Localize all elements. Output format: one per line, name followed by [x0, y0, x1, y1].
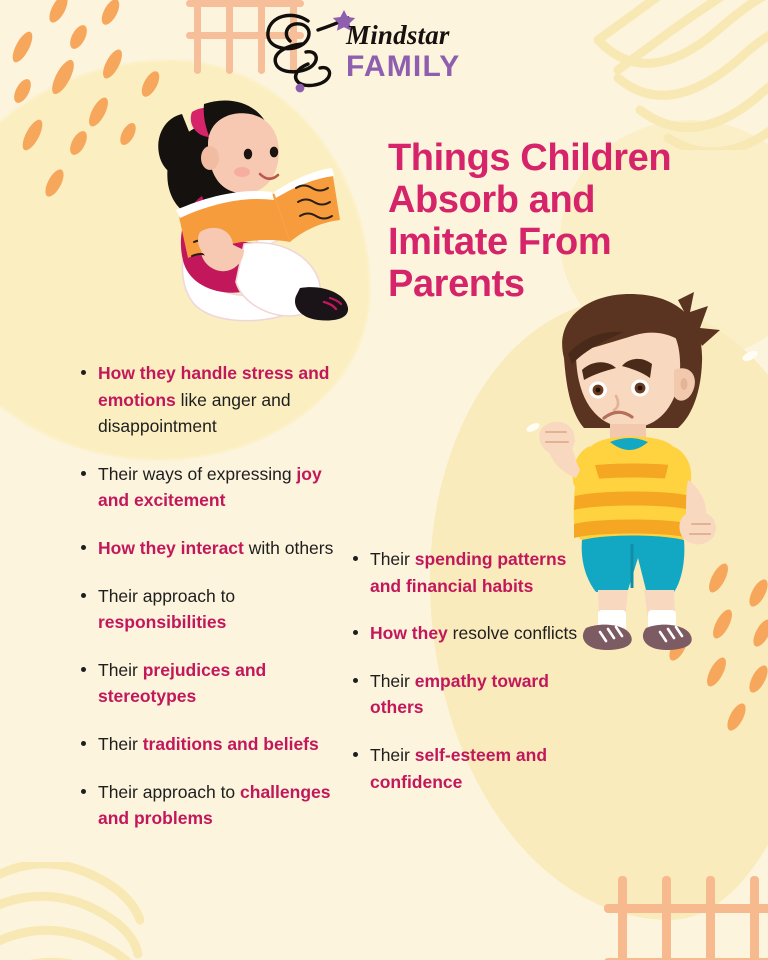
left-list-item: How they handle stress and emotions like… — [78, 360, 346, 440]
logo-family-name: FAMILY — [346, 51, 460, 83]
page-title: Things ChildrenAbsorb andImitate FromPar… — [388, 138, 738, 305]
right-list-item-2-segment-2: resolve conflicts — [448, 623, 577, 643]
left-list-item-5-segment-1: Their — [98, 660, 143, 680]
left-list-item: Their prejudices and stereotypes — [78, 657, 346, 710]
scribble-top-right — [588, 0, 768, 150]
right-bullet-list: Their spending patterns and financial ha… — [350, 546, 590, 816]
left-list-item-3-segment-1: How they interact — [98, 538, 244, 558]
logo-script-name: Mindstar — [346, 22, 460, 49]
left-list-item-4-segment-1: Their approach to — [98, 586, 235, 606]
left-list-item-2-segment-1: Their ways of expressing — [98, 464, 296, 484]
right-list-item-1-segment-1: Their — [370, 549, 415, 569]
right-list-item: Their self-esteem and confidence — [350, 742, 590, 795]
left-list-item-3-segment-2: with others — [244, 538, 333, 558]
left-list-item-4-segment-2: responsibilities — [98, 612, 226, 632]
left-list-item: How they interact with others — [78, 535, 346, 562]
left-list-item: Their traditions and beliefs — [78, 731, 346, 758]
scribble-swirl-wand-icon — [262, 8, 358, 94]
right-list-item: How they resolve conflicts — [350, 620, 590, 647]
grid-pattern-bottom-right — [604, 876, 768, 960]
infographic-canvas: Mindstar FAMILY Things ChildrenAbsorb an… — [0, 0, 768, 960]
right-list-item-2-segment-1: How they — [370, 623, 448, 643]
right-list-item: Their empathy toward others — [350, 668, 590, 721]
left-list-item: Their approach to challenges and problem… — [78, 779, 346, 832]
page-title-line-3: Imitate From — [388, 222, 738, 264]
girl-reading-book-illustration — [148, 92, 353, 322]
right-list-item: Their spending patterns and financial ha… — [350, 546, 590, 599]
logo-wordmark: Mindstar FAMILY — [346, 22, 460, 83]
left-list-item-6-segment-1: Their — [98, 734, 143, 754]
left-bullet-list: How they handle stress and emotions like… — [78, 360, 346, 853]
scribble-bottom-left — [0, 862, 180, 960]
page-title-line-2: Absorb and — [388, 180, 738, 222]
page-title-line-1: Things Children — [388, 138, 738, 180]
right-list-item-3-segment-1: Their — [370, 671, 415, 691]
brand-logo[interactable]: Mindstar FAMILY — [262, 6, 474, 98]
left-list-item: Their approach to responsibilities — [78, 583, 346, 636]
left-list-item: Their ways of expressing joy and excitem… — [78, 461, 346, 514]
page-title-line-4: Parents — [388, 264, 738, 306]
left-list-item-7-segment-1: Their approach to — [98, 782, 240, 802]
right-list-item-4-segment-1: Their — [370, 745, 415, 765]
left-list-item-6-segment-2: traditions and beliefs — [143, 734, 319, 754]
